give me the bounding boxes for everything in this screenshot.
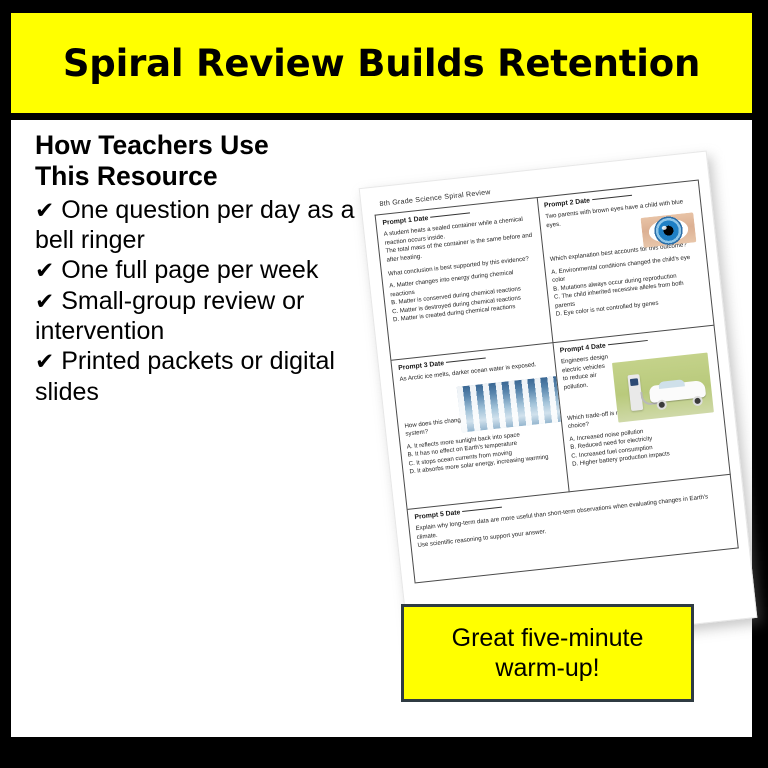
slide-canvas: Spiral Review Builds Retention How Teach… bbox=[0, 0, 768, 768]
copy-heading: How Teachers Use This Resource bbox=[35, 130, 365, 193]
worksheet-page: 8th Grade Science Spiral Review Prompt 1… bbox=[359, 150, 758, 655]
prompt-cell-1: Prompt 1 Date A student heats a sealed c… bbox=[376, 198, 553, 361]
electric-car-photo-icon bbox=[612, 353, 714, 423]
list-item: ✔ One question per day as a bell ringer bbox=[35, 195, 365, 256]
teacher-usage-block: How Teachers Use This Resource ✔ One que… bbox=[35, 130, 365, 407]
callout-label: Great five-minute warm-up! bbox=[452, 623, 644, 684]
list-item: ✔ One full page per week bbox=[35, 255, 365, 286]
car-wheel-rear bbox=[692, 395, 703, 406]
prompt-cell-3: Prompt 3 Date As Arctic ice melts, darke… bbox=[391, 343, 569, 510]
list-item: ✔ Printed packets or digital slides bbox=[35, 346, 365, 407]
callout-badge: Great five-minute warm-up! bbox=[401, 604, 694, 702]
prompt-cell-4: Prompt 4 Date Engineers design electric … bbox=[553, 326, 731, 493]
date-blank-rule bbox=[446, 358, 486, 363]
date-blank-rule bbox=[430, 212, 470, 217]
page-title: Spiral Review Builds Retention bbox=[63, 42, 700, 85]
eye-photo-icon bbox=[641, 212, 697, 248]
worksheet-preview[interactable]: 8th Grade Science Spiral Review Prompt 1… bbox=[359, 150, 758, 655]
list-item-label: Small-group review or intervention bbox=[35, 287, 304, 346]
check-icon: ✔ bbox=[35, 289, 54, 315]
car-wheel-front bbox=[656, 399, 667, 410]
list-item-label: One question per day as a bell ringer bbox=[35, 196, 354, 255]
date-blank-rule bbox=[462, 507, 502, 512]
date-blank-rule bbox=[608, 340, 648, 345]
list-item-label: Printed packets or digital slides bbox=[35, 347, 335, 406]
prompt-stem: Engineers design electric vehicles to re… bbox=[561, 353, 612, 393]
prompt-grid: Prompt 1 Date A student heats a sealed c… bbox=[375, 179, 739, 583]
check-icon: ✔ bbox=[35, 258, 54, 284]
prompt-choices: A. Environmental conditions changed the … bbox=[551, 253, 706, 320]
list-item-label: One full page per week bbox=[54, 256, 318, 284]
check-icon: ✔ bbox=[35, 349, 54, 375]
list-item: ✔ Small-group review or intervention bbox=[35, 286, 365, 347]
check-icon: ✔ bbox=[35, 198, 54, 224]
prompt-cell-2: Prompt 2 Date Two parents with brown eye… bbox=[537, 180, 714, 343]
date-blank-rule bbox=[592, 195, 632, 200]
title-banner: Spiral Review Builds Retention bbox=[11, 13, 752, 113]
